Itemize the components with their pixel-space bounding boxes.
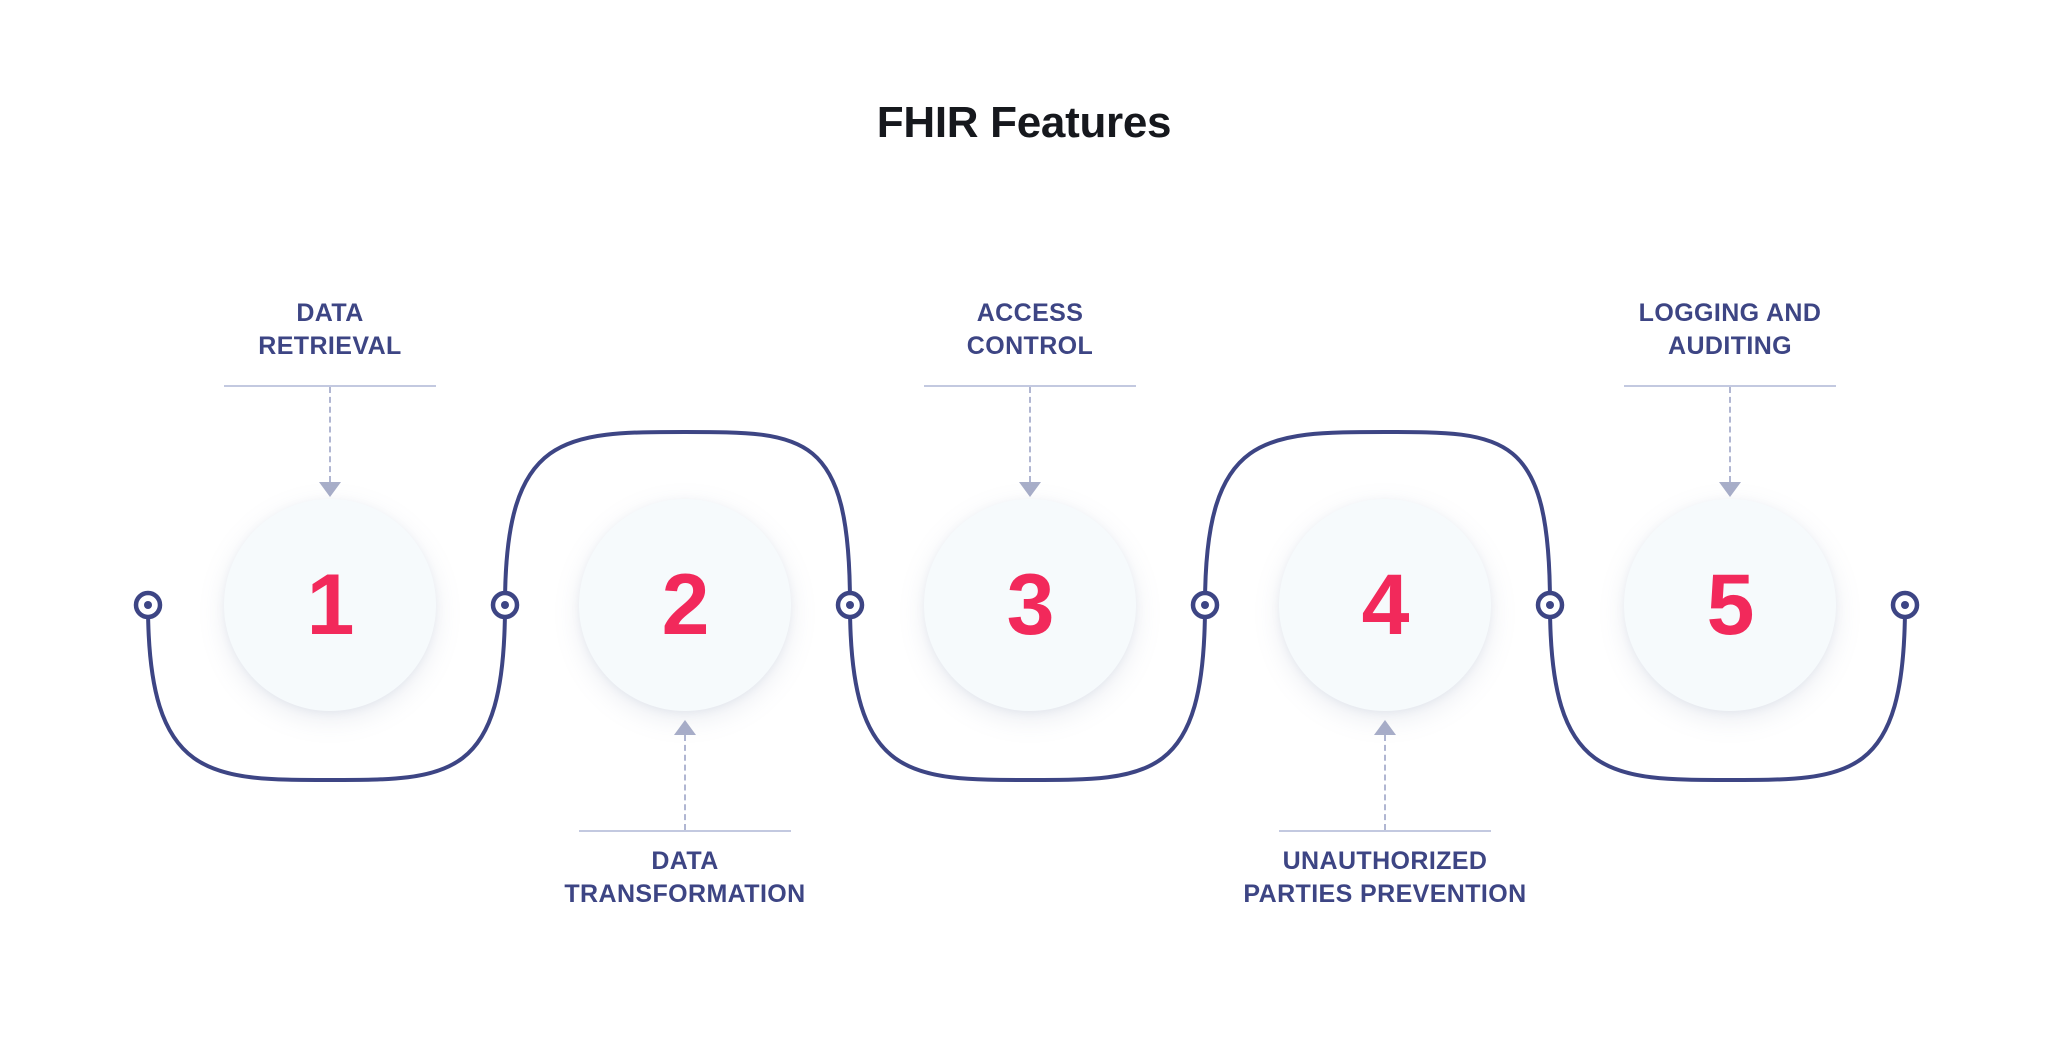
step-label-1-line-2: RETRIEVAL xyxy=(160,330,500,363)
connector-rule-4 xyxy=(1279,830,1491,832)
connector-arrow-1-icon xyxy=(319,482,341,497)
step-label-1: DATARETRIEVAL xyxy=(160,297,500,364)
connector-step-4 xyxy=(1279,720,1491,832)
node-end-ring-icon xyxy=(1893,593,1917,617)
node-4-5-dot-icon xyxy=(1546,601,1554,609)
connector-arrow-2-icon xyxy=(674,720,696,735)
connector-rule-3 xyxy=(924,385,1136,387)
connector-arrow-5-icon xyxy=(1719,482,1741,497)
connector-dashed-stem-5 xyxy=(1729,387,1731,482)
step-number-4: 4 xyxy=(1362,562,1409,648)
step-label-3: ACCESSCONTROL xyxy=(860,297,1200,364)
connector-dashed-stem-4 xyxy=(1384,735,1386,830)
connector-dashed-stem-3 xyxy=(1029,387,1031,482)
step-label-5-line-1: LOGGING AND xyxy=(1560,297,1900,330)
connector-arrow-4-icon xyxy=(1374,720,1396,735)
step-number-1: 1 xyxy=(307,562,354,648)
connector-rule-2 xyxy=(579,830,791,832)
step-label-4-line-2: PARTIES PREVENTION xyxy=(1215,878,1555,911)
node-4-5-ring-icon xyxy=(1538,593,1562,617)
step-label-4: UNAUTHORIZEDPARTIES PREVENTION xyxy=(1215,845,1555,912)
node-1-2-ring-icon xyxy=(493,593,517,617)
node-start-ring-icon xyxy=(136,593,160,617)
connector-rule-5 xyxy=(1624,385,1836,387)
step-circle-4[interactable]: 4 xyxy=(1279,499,1491,711)
step-number-3: 3 xyxy=(1007,562,1054,648)
node-2-3-dot-icon xyxy=(846,601,854,609)
step-circle-1[interactable]: 1 xyxy=(224,499,436,711)
node-3-4-dot-icon xyxy=(1201,601,1209,609)
node-end-dot-icon xyxy=(1901,601,1909,609)
connector-step-5 xyxy=(1624,385,1836,497)
step-label-2: DATATRANSFORMATION xyxy=(515,845,855,912)
node-1-2-dot-icon xyxy=(501,601,509,609)
step-label-3-line-1: ACCESS xyxy=(860,297,1200,330)
step-number-5: 5 xyxy=(1707,562,1754,648)
step-circle-3[interactable]: 3 xyxy=(924,499,1136,711)
node-3-4-ring-icon xyxy=(1193,593,1217,617)
step-label-2-line-2: TRANSFORMATION xyxy=(515,878,855,911)
connector-step-2 xyxy=(579,720,791,832)
step-label-1-line-1: DATA xyxy=(160,297,500,330)
connector-step-1 xyxy=(224,385,436,497)
connector-arrow-3-icon xyxy=(1019,482,1041,497)
connector-step-3 xyxy=(924,385,1136,497)
connector-rule-1 xyxy=(224,385,436,387)
step-label-4-line-1: UNAUTHORIZED xyxy=(1215,845,1555,878)
page-title: FHIR Features xyxy=(0,98,2048,148)
node-2-3-ring-icon xyxy=(838,593,862,617)
step-label-5-line-2: AUDITING xyxy=(1560,330,1900,363)
connector-dashed-stem-2 xyxy=(684,735,686,830)
step-label-3-line-2: CONTROL xyxy=(860,330,1200,363)
step-label-2-line-1: DATA xyxy=(515,845,855,878)
step-number-2: 2 xyxy=(662,562,709,648)
step-circle-2[interactable]: 2 xyxy=(579,499,791,711)
connector-dashed-stem-1 xyxy=(329,387,331,482)
step-circle-5[interactable]: 5 xyxy=(1624,499,1836,711)
infographic-canvas: FHIR Features 1DATARETRIEVAL2DATATRANSFO… xyxy=(0,0,2048,1056)
step-label-5: LOGGING ANDAUDITING xyxy=(1560,297,1900,364)
node-start-dot-icon xyxy=(144,601,152,609)
